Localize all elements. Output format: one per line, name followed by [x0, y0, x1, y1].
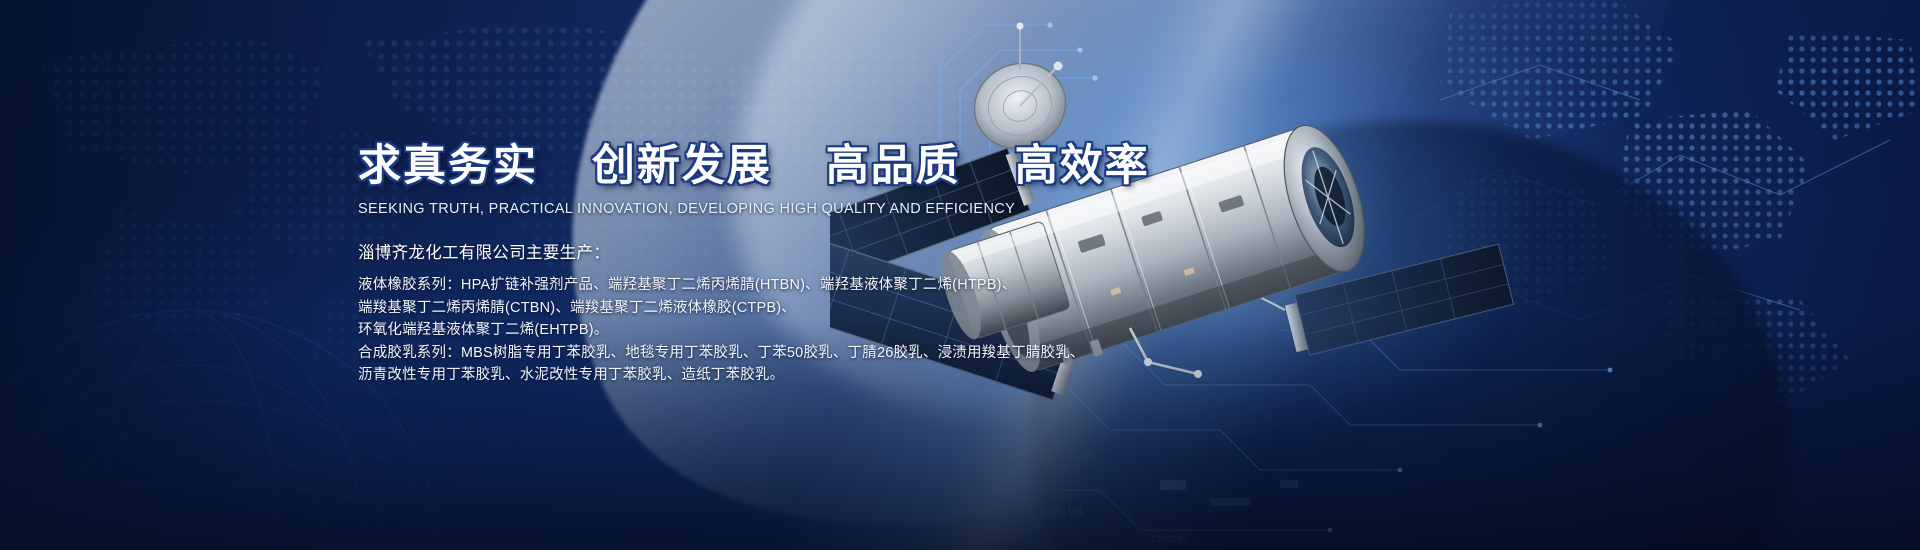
banner-copy: 求真务实 创新发展 高品质 高效率 SEEKING TRUTH, PRACTIC…	[358, 145, 1078, 387]
headline-segment-2: 创新发展	[592, 145, 772, 188]
svg-text:01001101: 01001101	[1040, 508, 1083, 518]
product-description: 液体橡胶系列：HPA扩链补强剂产品、端羟基聚丁二烯丙烯腈(HTBN)、端羟基液体…	[358, 274, 1078, 387]
hero-banner: 01001101 1100101	[0, 0, 1920, 550]
company-intro-line: 淄博齐龙化工有限公司主要生产：	[358, 239, 1078, 263]
svg-text:1100101: 1100101	[1150, 535, 1188, 545]
product-line-3: 环氧化端羟基液体聚丁二烯(EHTPB)。	[358, 319, 1078, 342]
headline-segment-1: 求真务实	[358, 145, 538, 188]
product-line-1: 液体橡胶系列：HPA扩链补强剂产品、端羟基聚丁二烯丙烯腈(HTBN)、端羟基液体…	[358, 274, 1078, 297]
product-line-2: 端羧基聚丁二烯丙烯腈(CTBN)、端羧基聚丁二烯液体橡胶(CTPB)、	[358, 297, 1078, 320]
product-line-4: 合成胶乳系列：MBS树脂专用丁苯胶乳、地毯专用丁苯胶乳、丁苯50胶乳、丁腈26胶…	[358, 342, 1078, 365]
banner-subhead-english: SEEKING TRUTH, PRACTICAL INNOVATION, DEV…	[358, 201, 1078, 217]
headline-segment-4: 高效率	[1015, 145, 1150, 188]
headline-segment-3: 高品质	[826, 145, 961, 188]
banner-headline: 求真务实 创新发展 高品质 高效率	[358, 145, 1078, 188]
product-line-5: 沥青改性专用丁苯胶乳、水泥改性专用丁苯胶乳、造纸丁苯胶乳。	[358, 364, 1078, 387]
